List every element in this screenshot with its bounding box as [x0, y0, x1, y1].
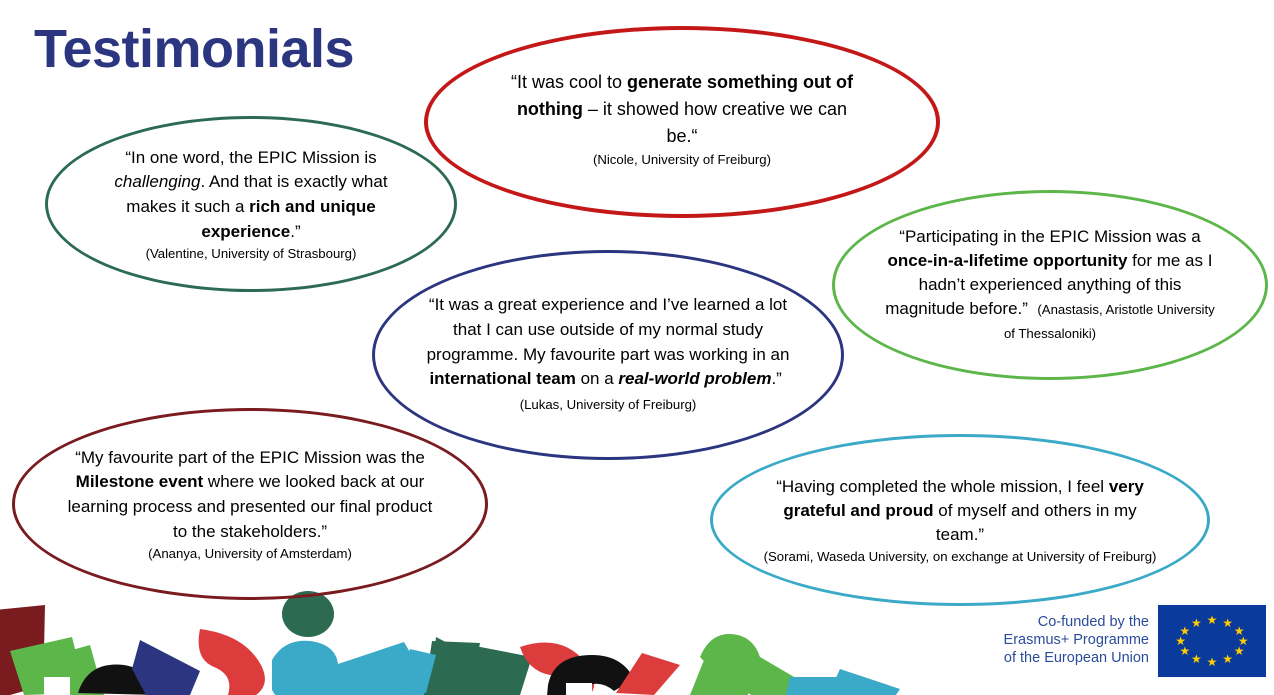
- testimonial-bubble-red: “It was cool to generate something out o…: [424, 26, 940, 218]
- quote-segment: “Participating in the EPIC Mission was a: [899, 227, 1200, 246]
- eu-flag-icon: ★★★★★★★★★★★★: [1158, 605, 1266, 677]
- testimonial-text-darkred: “My favourite part of the EPIC Mission w…: [62, 446, 438, 563]
- testimonial-bubble-navy: “It was a great experience and I’ve lear…: [372, 250, 844, 460]
- eu-star-icon: ★: [1191, 653, 1202, 665]
- eu-star-icon: ★: [1222, 617, 1233, 629]
- testimonial-attribution-darkred: (Ananya, University of Amsterdam): [62, 545, 438, 562]
- quote-emphasis: Milestone event: [76, 472, 204, 491]
- quote-segment: .”: [290, 222, 300, 241]
- quote-emphasis: international team: [429, 369, 575, 388]
- testimonial-text-teal: “In one word, the EPIC Mission is challe…: [93, 146, 410, 263]
- quote-segment: “My favourite part of the EPIC Mission w…: [75, 448, 425, 467]
- eu-star-icon: ★: [1222, 653, 1233, 665]
- eu-star-icon: ★: [1234, 645, 1245, 657]
- eu-funding-logo: Co-funded by the Erasmus+ Programme of t…: [1004, 605, 1266, 677]
- quote-segment: of myself and others in my team.”: [934, 501, 1137, 544]
- testimonial-text-cyan: “Having completed the whole mission, I f…: [762, 475, 1157, 566]
- testimonial-bubble-teal: “In one word, the EPIC Mission is challe…: [45, 116, 457, 292]
- testimonial-attribution-teal: (Valentine, University of Strasbourg): [93, 245, 410, 262]
- testimonial-attribution-red: (Nicole, University of Freiburg): [499, 151, 865, 168]
- quote-segment: “Having completed the whole mission, I f…: [776, 477, 1109, 496]
- eu-line-3: of the European Union: [1004, 650, 1149, 668]
- quote-segment: on a: [576, 369, 619, 388]
- page-title: Testimonials: [34, 21, 354, 78]
- eu-line-1: Co-funded by the: [1004, 614, 1149, 632]
- quote-segment: “It was a great experience and I’ve lear…: [427, 295, 790, 364]
- eu-star-icon: ★: [1207, 614, 1218, 626]
- quote-emphasis-bold-italic: real-world problem: [618, 369, 771, 388]
- slide-canvas: Testimonials: [0, 0, 1274, 695]
- testimonial-bubble-cyan: “Having completed the whole mission, I f…: [710, 434, 1210, 606]
- testimonial-text-red: “It was cool to generate something out o…: [499, 69, 865, 168]
- eu-line-2: Erasmus+ Programme: [1004, 632, 1149, 650]
- testimonial-bubble-green: “Participating in the EPIC Mission was a…: [832, 190, 1268, 380]
- eu-star-icon: ★: [1207, 656, 1218, 668]
- eu-star-icon: ★: [1191, 617, 1202, 629]
- quote-emphasis: once-in-a-lifetime opportunity: [888, 251, 1128, 270]
- testimonial-bubble-darkred: “My favourite part of the EPIC Mission w…: [12, 408, 488, 600]
- quote-segment: – it showed how creative we can be.“: [583, 99, 847, 146]
- quote-emphasis-italic: challenging: [114, 172, 200, 191]
- testimonial-text-navy: “It was a great experience and I’ve lear…: [426, 293, 789, 418]
- quote-segment: .”: [771, 369, 786, 388]
- testimonial-attribution-navy: (Lukas, University of Freiburg): [520, 397, 697, 412]
- eu-funding-text: Co-funded by the Erasmus+ Programme of t…: [1004, 614, 1149, 668]
- eu-star-icon: ★: [1179, 625, 1190, 637]
- testimonial-attribution-cyan: (Sorami, Waseda University, on exchange …: [762, 548, 1157, 565]
- quote-segment: “In one word, the EPIC Mission is: [125, 148, 376, 167]
- quote-segment: “It was cool to: [511, 72, 627, 92]
- testimonial-text-green: “Participating in the EPIC Mission was a…: [878, 225, 1222, 346]
